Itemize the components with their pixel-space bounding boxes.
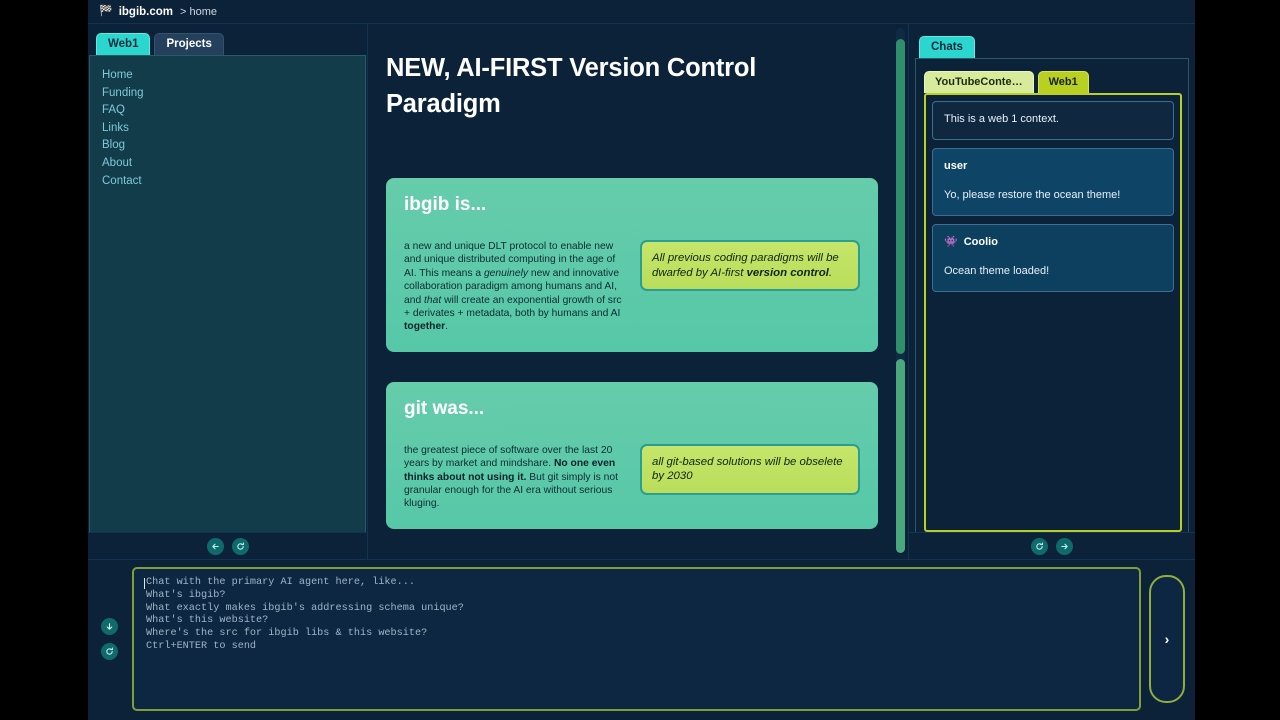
text-caret bbox=[144, 578, 145, 589]
right-panel-footer bbox=[909, 532, 1195, 559]
main-content-column: NEW, AI-FIRST Version Control Paradigm i… bbox=[368, 24, 908, 559]
left-nav-list: Home Funding FAQ Links Blog About Contac… bbox=[89, 55, 366, 532]
avatar-icon: 👾 bbox=[944, 237, 958, 248]
sidebar-item-links[interactable]: Links bbox=[102, 120, 365, 138]
left-tab-row: Web1 Projects bbox=[88, 24, 367, 55]
chat-tab-web1[interactable]: Web1 bbox=[1038, 71, 1089, 93]
refresh-button[interactable] bbox=[101, 643, 118, 660]
chat-message-text: This is a web 1 context. bbox=[944, 112, 1162, 127]
refresh-icon bbox=[105, 647, 114, 656]
chat-input[interactable]: Chat with the primary AI agent here, lik… bbox=[132, 567, 1141, 711]
card-body-text: a new and unique DLT protocol to enable … bbox=[404, 240, 624, 334]
breadcrumb[interactable]: > home bbox=[180, 6, 217, 18]
card-git-was: git was... the greatest piece of softwar… bbox=[386, 382, 878, 529]
tab-projects[interactable]: Projects bbox=[154, 33, 223, 55]
scrollbar-thumb[interactable] bbox=[896, 39, 905, 354]
chat-message-author: user bbox=[944, 159, 1162, 174]
card-callout: All previous coding paradigms will be dw… bbox=[640, 240, 860, 291]
chat-message: user Yo, please restore the ocean theme! bbox=[932, 148, 1174, 216]
send-button[interactable]: › bbox=[1149, 575, 1185, 703]
card-row: a new and unique DLT protocol to enable … bbox=[404, 240, 860, 334]
page-title: NEW, AI-FIRST Version Control Paradigm bbox=[386, 50, 816, 122]
scrollbar-track-lower[interactable] bbox=[896, 359, 905, 553]
author-name: user bbox=[944, 159, 967, 174]
main-scrollbar[interactable] bbox=[896, 28, 905, 553]
chat-tab-row: YouTubeConte… Web1 bbox=[916, 59, 1188, 93]
right-tab-row: Chats bbox=[909, 24, 1195, 58]
scroll-down-button[interactable] bbox=[101, 618, 118, 635]
composer-bar: Chat with the primary AI agent here, lik… bbox=[88, 559, 1195, 720]
main-content-scroll: NEW, AI-FIRST Version Control Paradigm i… bbox=[368, 24, 896, 559]
right-panel: Chats YouTubeConte… Web1 This is a web 1… bbox=[908, 24, 1195, 559]
card-body-text: the greatest piece of software over the … bbox=[404, 444, 624, 511]
chat-area: YouTubeConte… Web1 This is a web 1 conte… bbox=[915, 58, 1189, 532]
back-button[interactable] bbox=[207, 538, 224, 555]
card-callout: all git-based solutions will be obselete… bbox=[640, 444, 860, 495]
refresh-button[interactable] bbox=[1031, 538, 1048, 555]
card-ibgib-is: ibgib is... a new and unique DLT protoco… bbox=[386, 178, 878, 352]
arrow-left-icon bbox=[211, 542, 220, 551]
card-heading: ibgib is... bbox=[404, 194, 860, 216]
arrow-down-icon bbox=[105, 622, 114, 631]
body-region: Web1 Projects Home Funding FAQ Links Blo… bbox=[88, 24, 1195, 559]
sidebar-item-faq[interactable]: FAQ bbox=[102, 102, 365, 120]
checkered-flag-icon: 🏁 bbox=[99, 6, 112, 17]
chat-input-placeholder: Chat with the primary AI agent here, lik… bbox=[144, 577, 1129, 654]
tab-chats[interactable]: Chats bbox=[919, 36, 975, 58]
chat-message-text: Yo, please restore the ocean theme! bbox=[944, 188, 1162, 203]
left-panel: Web1 Projects Home Funding FAQ Links Blo… bbox=[88, 24, 368, 559]
sidebar-item-contact[interactable]: Contact bbox=[102, 173, 365, 191]
sidebar-item-blog[interactable]: Blog bbox=[102, 137, 365, 155]
brand-label[interactable]: ibgib.com bbox=[119, 6, 173, 18]
card-heading: git was... bbox=[404, 398, 860, 420]
left-panel-footer bbox=[88, 532, 367, 559]
refresh-button[interactable] bbox=[232, 538, 249, 555]
card-row: the greatest piece of software over the … bbox=[404, 444, 860, 511]
tab-web1[interactable]: Web1 bbox=[96, 33, 150, 55]
forward-button[interactable] bbox=[1056, 538, 1073, 555]
refresh-icon bbox=[1035, 542, 1044, 551]
chat-message-list: This is a web 1 context. user Yo, please… bbox=[924, 93, 1182, 532]
chat-tab-youtube-context[interactable]: YouTubeConte… bbox=[924, 71, 1034, 93]
refresh-icon bbox=[236, 542, 245, 551]
sidebar-item-about[interactable]: About bbox=[102, 155, 365, 173]
sidebar-item-funding[interactable]: Funding bbox=[102, 85, 365, 103]
chat-message-text: Ocean theme loaded! bbox=[944, 264, 1162, 279]
arrow-right-icon bbox=[1060, 542, 1069, 551]
app-window: 🏁 ibgib.com > home Web1 Projects Home Fu… bbox=[88, 0, 1195, 720]
chat-message: This is a web 1 context. bbox=[932, 101, 1174, 140]
top-bar: 🏁 ibgib.com > home bbox=[88, 0, 1195, 24]
sidebar-item-home[interactable]: Home bbox=[102, 67, 365, 85]
chat-message-author: 👾 Coolio bbox=[944, 235, 1162, 250]
chat-message: 👾 Coolio Ocean theme loaded! bbox=[932, 224, 1174, 292]
composer-side-buttons bbox=[94, 618, 124, 660]
author-name: Coolio bbox=[964, 235, 998, 250]
